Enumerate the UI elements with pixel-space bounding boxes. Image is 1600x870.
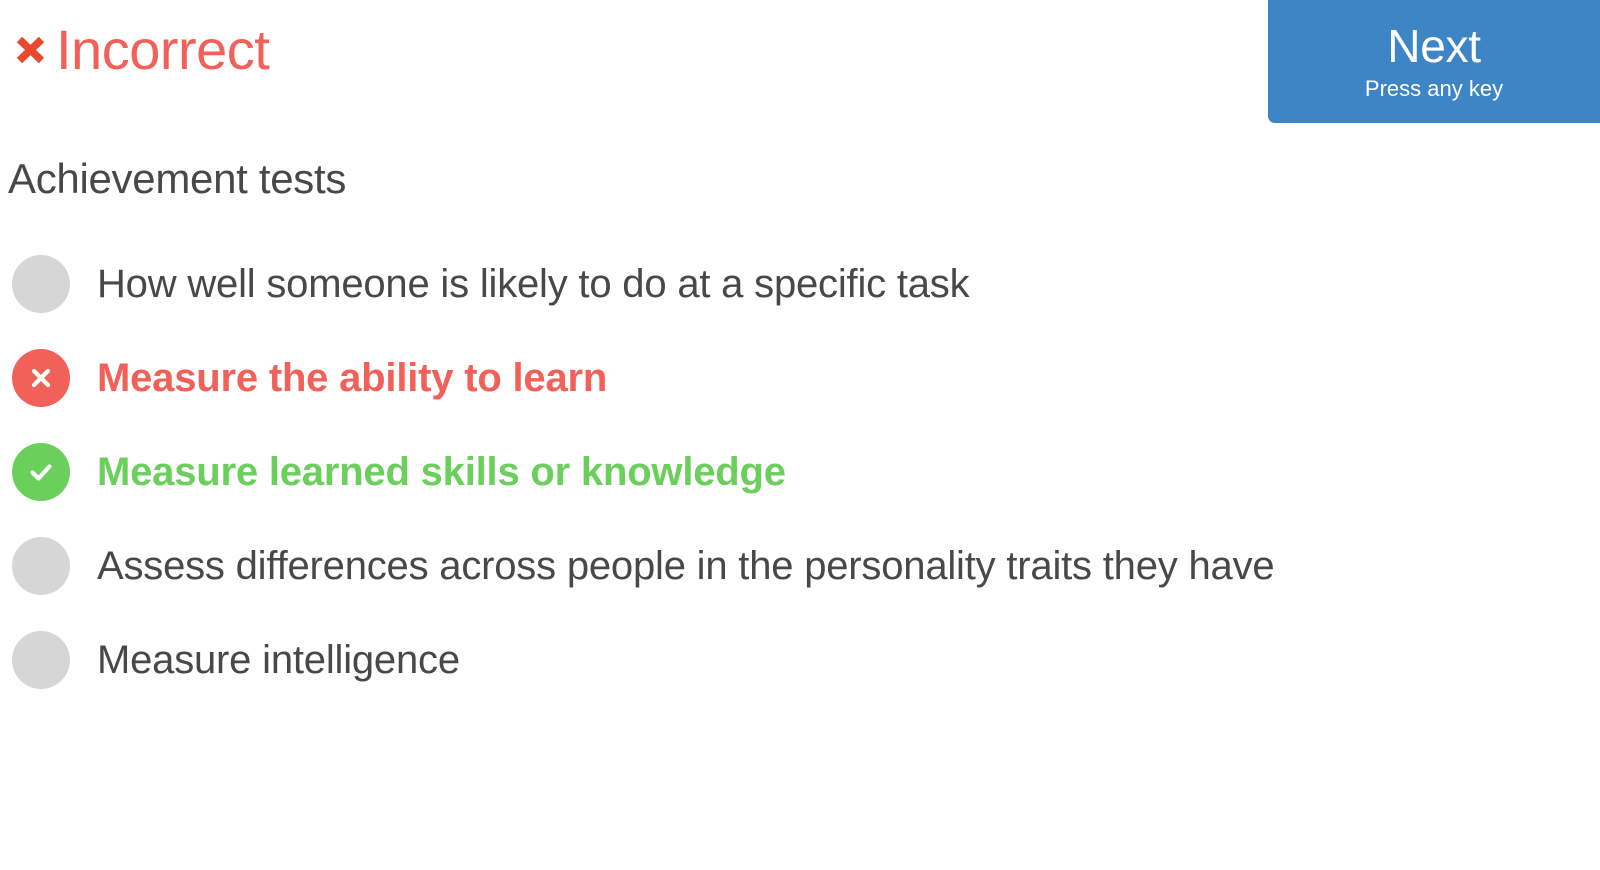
circle-x-icon <box>12 349 70 407</box>
answer-option-row[interactable]: Measure the ability to learn <box>0 344 1600 413</box>
verdict-banner: Incorrect <box>10 8 269 92</box>
next-button-label: Next <box>1387 21 1480 71</box>
next-button-hint: Press any key <box>1365 76 1503 102</box>
empty-circle-icon <box>12 255 70 313</box>
verdict-label: Incorrect <box>56 22 269 78</box>
answer-option-row[interactable]: Measure learned skills or knowledge <box>0 438 1600 507</box>
answer-option-label: How well someone is likely to do at a sp… <box>97 250 969 319</box>
circle-check-icon <box>12 443 70 501</box>
answer-option-row[interactable]: Assess differences across people in the … <box>0 532 1600 601</box>
answer-option-label: Measure learned skills or knowledge <box>97 438 786 507</box>
answer-option-label: Assess differences across people in the … <box>97 532 1274 601</box>
x-mark-icon <box>10 29 52 71</box>
answer-option-label: Measure intelligence <box>97 626 460 695</box>
feedback-header: Incorrect Next Press any key <box>0 0 1600 130</box>
quiz-feedback-screen: Incorrect Next Press any key Achievement… <box>0 0 1600 870</box>
next-button[interactable]: Next Press any key <box>1268 0 1600 123</box>
question-prompt: Achievement tests <box>8 153 346 205</box>
answer-options-list: How well someone is likely to do at a sp… <box>0 250 1600 720</box>
answer-option-row[interactable]: Measure intelligence <box>0 626 1600 695</box>
answer-option-row[interactable]: How well someone is likely to do at a sp… <box>0 250 1600 319</box>
answer-option-label: Measure the ability to learn <box>97 344 607 413</box>
empty-circle-icon <box>12 631 70 689</box>
empty-circle-icon <box>12 537 70 595</box>
